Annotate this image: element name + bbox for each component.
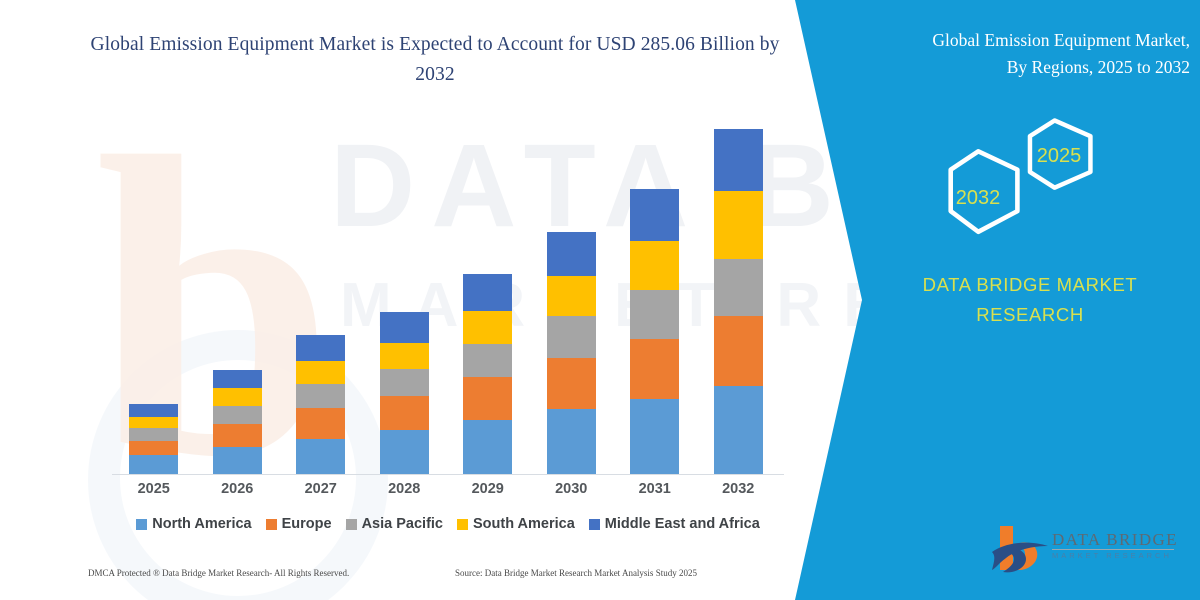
bar-column <box>530 140 613 474</box>
legend-swatch-icon <box>457 519 468 530</box>
bar-segment <box>630 189 679 241</box>
bar-segment <box>296 439 345 474</box>
legend-swatch-icon <box>589 519 600 530</box>
page-title: Global Emission Equipment Market is Expe… <box>70 30 800 90</box>
legend-label: South America <box>473 516 575 532</box>
x-axis-tick-label: 2031 <box>613 481 696 503</box>
bar-segment <box>463 344 512 377</box>
chart-legend: North AmericaEuropeAsia PacificSouth Ame… <box>112 513 784 535</box>
logo-divider <box>1052 549 1174 550</box>
bar-segment <box>463 377 512 420</box>
legend-item[interactable]: Middle East and Africa <box>589 516 760 532</box>
stacked-bar[interactable] <box>463 274 512 474</box>
bar-segment <box>714 129 763 192</box>
brand-text: DATA BRIDGE MARKET RESEARCH <box>880 270 1180 330</box>
bar-segment <box>380 396 429 430</box>
bar-column <box>363 140 446 474</box>
bar-segment <box>129 428 178 441</box>
bar-segment <box>296 335 345 361</box>
bar-segment <box>129 441 178 456</box>
stacked-bar[interactable] <box>213 370 262 474</box>
bar-segment <box>630 290 679 339</box>
hexagon-group: 2032 2025 <box>915 118 1115 238</box>
bar-segment <box>630 399 679 474</box>
bar-segment <box>380 430 429 474</box>
bar-segment <box>129 455 178 474</box>
legend-swatch-icon <box>266 519 277 530</box>
x-axis-tick-label: 2026 <box>196 481 279 503</box>
x-axis-tick-label: 2027 <box>279 481 362 503</box>
footer-source: Source: Data Bridge Market Research Mark… <box>455 568 697 578</box>
stacked-bar[interactable] <box>630 189 679 474</box>
bar-column <box>446 140 529 474</box>
bar-column <box>112 140 195 474</box>
legend-label: Asia Pacific <box>362 516 443 532</box>
bar-segment <box>547 358 596 409</box>
panel-title-line1: Global Emission Equipment Market, <box>932 30 1190 50</box>
bar-segment <box>380 312 429 342</box>
bar-segment <box>296 408 345 438</box>
footer-copyright: DMCA Protected ® Data Bridge Market Rese… <box>88 568 349 578</box>
bar-segment <box>129 404 178 417</box>
bar-segment <box>714 316 763 386</box>
bar-segment <box>714 259 763 316</box>
bar-column <box>697 140 780 474</box>
bar-segment <box>213 424 262 447</box>
chart-plot-area <box>112 140 780 475</box>
bar-segment <box>547 232 596 276</box>
stacked-bar[interactable] <box>129 404 178 474</box>
bar-segment <box>213 406 262 424</box>
x-axis-line <box>112 474 784 475</box>
bar-segment <box>547 409 596 474</box>
brand-line1: DATA BRIDGE MARKET <box>923 274 1138 295</box>
stacked-bar[interactable] <box>296 335 345 474</box>
bar-segment <box>630 339 679 398</box>
bar-segment <box>463 311 512 343</box>
bar-segment <box>714 191 763 259</box>
bar-segment <box>547 316 596 358</box>
stacked-bar[interactable] <box>714 129 763 474</box>
x-axis-tick-label: 2028 <box>363 481 446 503</box>
bar-segment <box>714 386 763 474</box>
bar-column <box>279 140 362 474</box>
legend-label: Europe <box>282 516 332 532</box>
bar-group <box>112 140 780 474</box>
bar-segment <box>380 369 429 396</box>
bar-segment <box>547 276 596 317</box>
brand-line2: RESEARCH <box>976 304 1084 325</box>
x-axis-tick-label: 2029 <box>446 481 529 503</box>
legend-item[interactable]: North America <box>136 516 251 532</box>
legend-label: North America <box>152 516 251 532</box>
bar-segment <box>129 417 178 428</box>
bar-column <box>613 140 696 474</box>
bar-segment <box>630 241 679 290</box>
logo-wordmark: DATA BRIDGE <box>1052 530 1182 550</box>
bar-segment <box>213 388 262 406</box>
legend-swatch-icon <box>346 519 357 530</box>
legend-item[interactable]: South America <box>457 516 575 532</box>
hexagon-2025-label: 2025 <box>1037 145 1082 167</box>
x-axis-tick-label: 2025 <box>112 481 195 503</box>
legend-item[interactable]: Europe <box>266 516 332 532</box>
panel-title: Global Emission Equipment Market, By Reg… <box>820 27 1190 81</box>
bar-segment <box>213 370 262 389</box>
x-axis-tick-label: 2032 <box>697 481 780 503</box>
stacked-bar[interactable] <box>380 312 429 474</box>
legend-label: Middle East and Africa <box>605 516 760 532</box>
bar-segment <box>463 274 512 312</box>
x-axis-labels: 20252026202720282029203020312032 <box>112 481 780 503</box>
x-axis-tick-label: 2030 <box>530 481 613 503</box>
panel-title-line2: By Regions, 2025 to 2032 <box>1007 57 1190 77</box>
bar-segment <box>380 343 429 369</box>
logo-tagline: MARKET RESEARCH <box>1052 551 1182 560</box>
legend-swatch-icon <box>136 519 147 530</box>
bar-segment <box>296 384 345 408</box>
stacked-bar[interactable] <box>547 232 596 474</box>
infographic-canvas: b DATA BRIDGE MARKET RESEARCH Global Emi… <box>0 0 1200 600</box>
bar-segment <box>463 420 512 474</box>
bar-column <box>196 140 279 474</box>
legend-item[interactable]: Asia Pacific <box>346 516 443 532</box>
bar-segment <box>296 361 345 384</box>
bar-segment <box>213 447 262 474</box>
hexagon-2032-label: 2032 <box>956 187 1001 209</box>
